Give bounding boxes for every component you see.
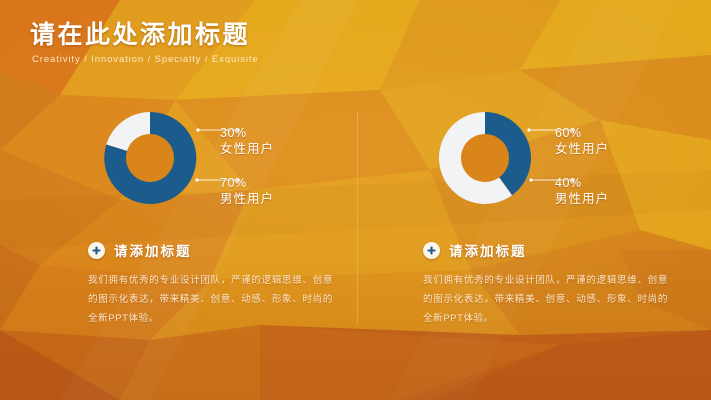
subhead-row-right: 请添加标题	[423, 240, 668, 260]
donut-chart-left[interactable]	[100, 108, 200, 208]
body-text-right: 我们拥有优秀的专业设计团队，严谨的逻辑思维、创意的图示化表达，带来精美、创意、动…	[423, 271, 668, 328]
chart-row-left: 30% 女性用户 70% 男性用户	[55, 100, 355, 210]
plus-icon	[88, 242, 105, 259]
callout-right-2: 40% 男性用户	[555, 176, 609, 207]
donut-chart-right[interactable]	[435, 108, 535, 208]
callouts-left: 30% 女性用户 70% 男性用户	[220, 100, 355, 210]
callout-percent: 40%	[555, 176, 609, 192]
plus-icon	[423, 242, 440, 259]
title-block: 请在此处添加标题 Creativity / Innovation / Speci…	[30, 22, 259, 65]
callout-percent: 60%	[555, 126, 609, 142]
subheading-left: 请添加标题	[114, 240, 192, 260]
callout-left-2: 70% 男性用户	[220, 176, 274, 207]
callout-percent: 70%	[220, 176, 274, 192]
callout-label: 男性用户	[555, 192, 609, 208]
callouts-right: 60% 女性用户 40% 男性用户	[555, 100, 690, 210]
callout-label: 男性用户	[220, 192, 274, 208]
callout-right-1: 60% 女性用户	[555, 126, 609, 157]
subheading-right: 请添加标题	[449, 240, 527, 260]
callout-left-1: 30% 女性用户	[220, 126, 274, 157]
chart-row-right: 60% 女性用户 40% 男性用户	[390, 100, 690, 210]
body-block-left: 请添加标题 我们拥有优秀的专业设计团队，严谨的逻辑思维、创意的图示化表达，带来精…	[88, 240, 333, 328]
body-text-left: 我们拥有优秀的专业设计团队，严谨的逻辑思维、创意的图示化表达，带来精美、创意、动…	[88, 271, 333, 328]
callout-label: 女性用户	[220, 142, 274, 158]
page-subtitle: Creativity / Innovation / Specialty / Ex…	[32, 54, 259, 65]
column-left: 30% 女性用户 70% 男性用户 请添加标题 我们拥有优秀的专业设计团队，严谨…	[55, 100, 355, 340]
body-block-right: 请添加标题 我们拥有优秀的专业设计团队，严谨的逻辑思维、创意的图示化表达，带来精…	[423, 240, 668, 328]
slide-canvas: 请在此处添加标题 Creativity / Innovation / Speci…	[0, 0, 711, 400]
callout-percent: 30%	[220, 126, 274, 142]
callout-label: 女性用户	[555, 142, 609, 158]
column-divider	[357, 112, 359, 324]
page-title: 请在此处添加标题	[30, 22, 259, 50]
subhead-row-left: 请添加标题	[88, 240, 333, 260]
column-right: 60% 女性用户 40% 男性用户 请添加标题 我们拥有优秀的专业设计团队，严谨…	[390, 100, 690, 340]
